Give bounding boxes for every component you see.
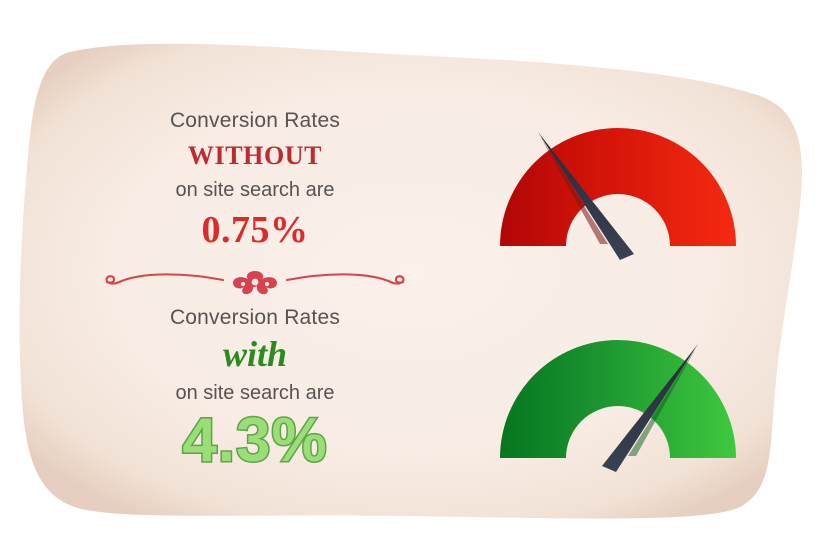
- with-heading: Conversion Rates: [85, 305, 425, 331]
- without-subline: on site search are: [85, 177, 425, 203]
- gauge-green: [478, 320, 758, 480]
- with-value: 4.3%: [85, 410, 425, 472]
- without-value: 0.75%: [85, 209, 425, 253]
- without-emphasis: WITHOUT: [85, 138, 425, 173]
- text-column: Conversion Rates WITHOUT on site search …: [85, 108, 425, 472]
- ornamental-flourish-divider: [95, 263, 415, 299]
- gauge-red-arc: [500, 128, 736, 246]
- without-heading: Conversion Rates: [85, 108, 425, 134]
- infographic-canvas: Conversion Rates WITHOUT on site search …: [0, 0, 820, 538]
- with-emphasis: with: [85, 333, 425, 376]
- gauge-red: [478, 108, 758, 268]
- with-subline: on site search are: [85, 380, 425, 406]
- panel-with: Conversion Rates with on site search are…: [85, 305, 425, 472]
- panel-without: Conversion Rates WITHOUT on site search …: [85, 108, 425, 253]
- gauge-green-arc: [500, 340, 736, 458]
